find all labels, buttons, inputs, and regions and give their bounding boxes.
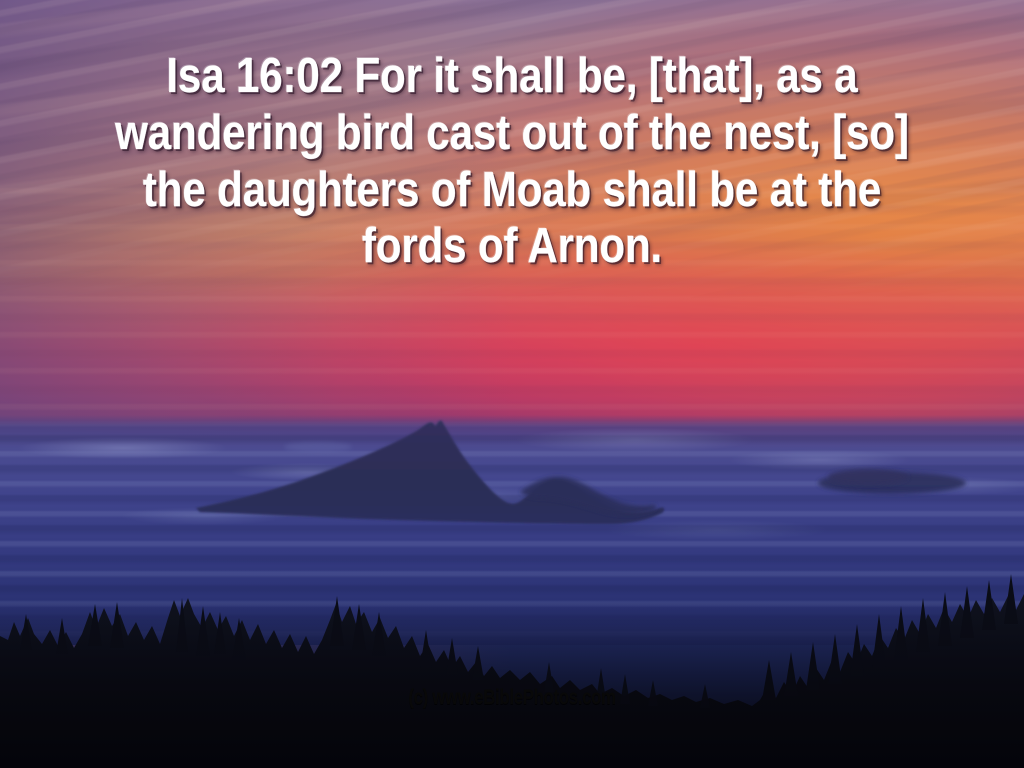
- verse-photo-canvas: Isa 16:02 For it shall be, [that], as a …: [0, 0, 1024, 768]
- verse-text: Isa 16:02 For it shall be, [that], as a …: [72, 48, 953, 275]
- watermark-credit: (c) www.eBiblePhotos.com: [102, 686, 921, 710]
